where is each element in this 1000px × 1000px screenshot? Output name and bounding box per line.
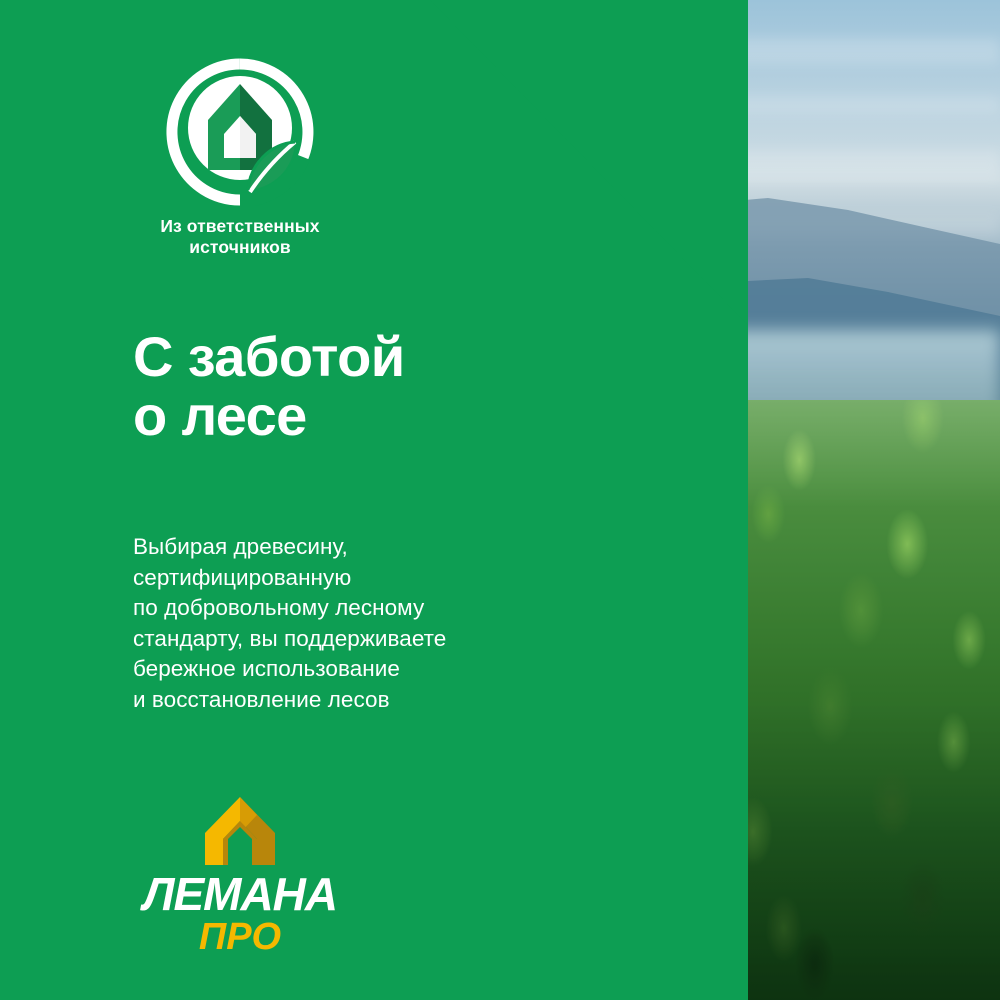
body-line-3: по добровольному лесному bbox=[133, 593, 446, 624]
page-title: С заботой о лесе bbox=[133, 327, 405, 446]
eco-caption-line-2: источников bbox=[130, 237, 350, 258]
eco-certification-mark: Из ответственных источников bbox=[130, 58, 350, 259]
body-line-2: сертифицированную bbox=[133, 563, 446, 594]
responsible-sources-emblem bbox=[166, 58, 314, 206]
body-line-1: Выбирая древесину, bbox=[133, 532, 446, 563]
body-line-5: бережное использование bbox=[133, 654, 446, 685]
brand-sub-wordmark: ПРО bbox=[130, 918, 350, 956]
poster-content: Из ответственных источников С заботой о … bbox=[0, 0, 1000, 1000]
brand-wordmark: ЛЕМАНА bbox=[130, 871, 350, 917]
lemana-house-icon bbox=[201, 795, 279, 867]
eco-caption-line-1: Из ответственных bbox=[130, 216, 350, 237]
headline-line-2: о лесе bbox=[133, 386, 405, 445]
eco-caption: Из ответственных источников bbox=[130, 216, 350, 259]
body-line-6: и восстановление лесов bbox=[133, 685, 446, 716]
headline-line-1: С заботой bbox=[133, 327, 405, 386]
body-copy: Выбирая древесину, сертифицированную по … bbox=[133, 532, 446, 716]
lemana-pro-logo: ЛЕМАНА ПРО bbox=[130, 795, 350, 956]
poster-canvas: Из ответственных источников С заботой о … bbox=[0, 0, 1000, 1000]
body-line-4: стандарту, вы поддерживаете bbox=[133, 624, 446, 655]
